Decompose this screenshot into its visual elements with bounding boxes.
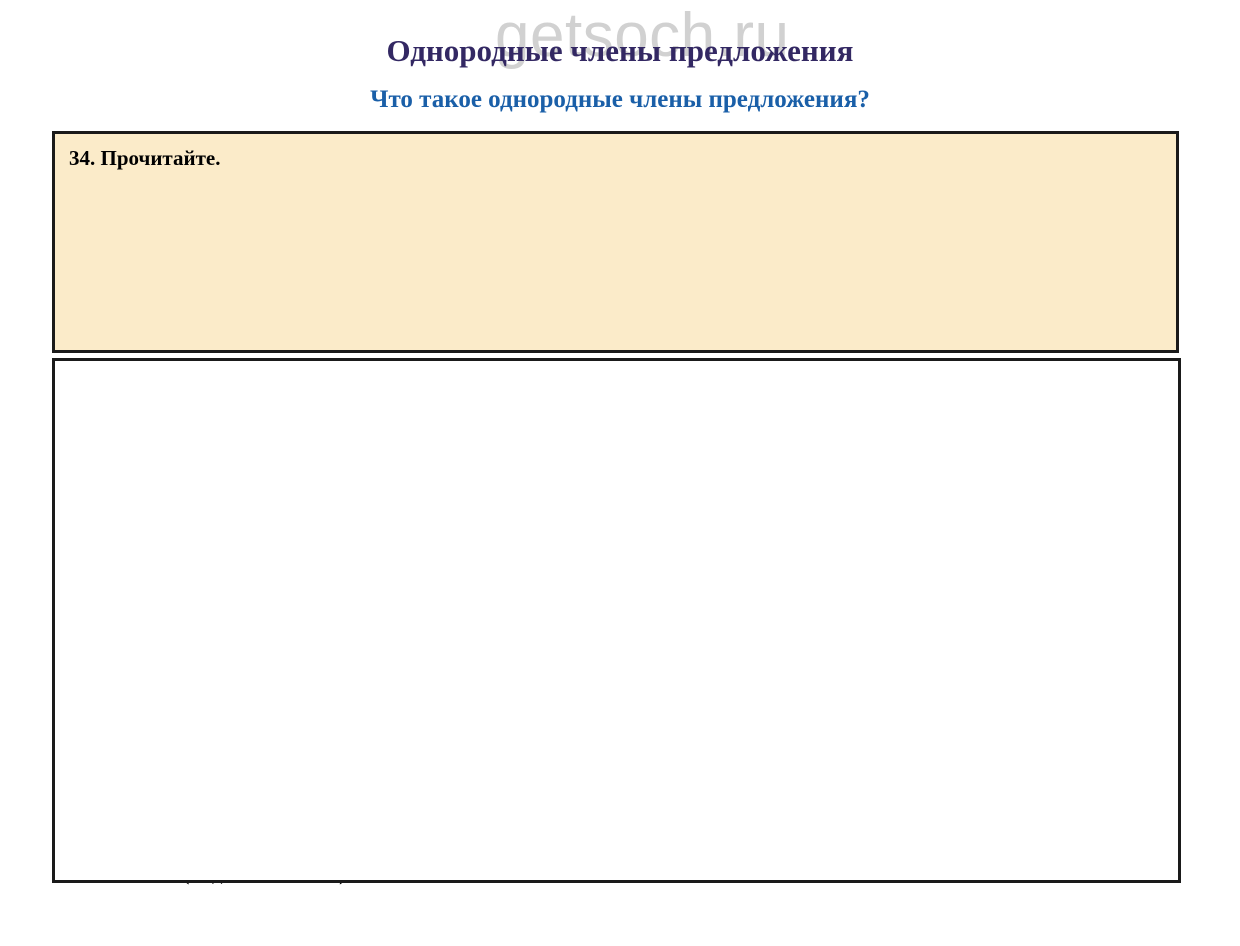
task-number-label: 34. Прочитайте. [69, 146, 220, 171]
page-title: Однородные члены предложения [0, 34, 1240, 68]
answer-box [52, 358, 1181, 883]
page-subtitle: Что такое однородные члены предложения? [0, 86, 1240, 114]
task-box: 34. Прочитайте. [52, 131, 1179, 353]
